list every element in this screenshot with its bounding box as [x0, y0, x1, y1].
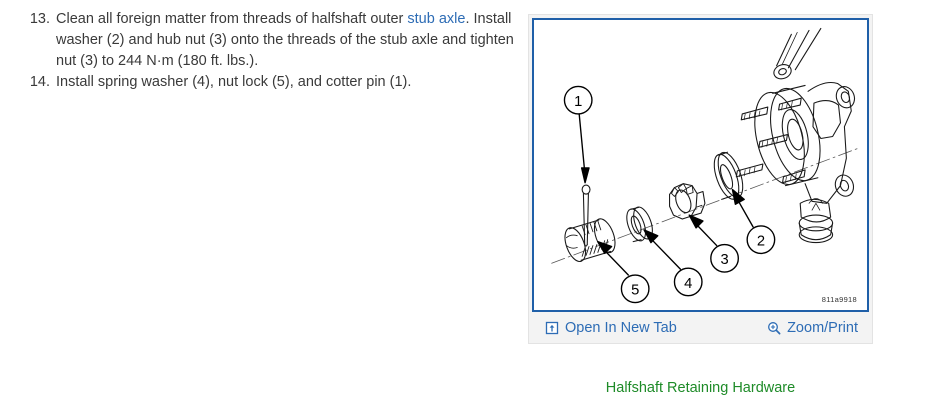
- callout-1: 1: [564, 86, 592, 114]
- stub-axle-link[interactable]: stub axle: [407, 11, 465, 27]
- knuckle-lower-bore: [832, 172, 856, 198]
- svg-text:4: 4: [684, 276, 692, 292]
- knuckle-upper-bore: [833, 84, 857, 110]
- hub-knuckle-assembly: [736, 28, 857, 242]
- figure-watermark: 811a9918: [822, 295, 857, 304]
- open-in-new-tab-button[interactable]: Open In New Tab: [545, 320, 677, 336]
- open-in-new-tab-label: Open In New Tab: [565, 320, 677, 336]
- callout-5: 5: [621, 275, 649, 303]
- magnifier-plus-icon: [767, 321, 781, 335]
- callout-2: 2: [747, 226, 775, 254]
- instruction-list: 13. Clean all foreign matter from thread…: [24, 9, 514, 93]
- svg-text:5: 5: [631, 283, 639, 299]
- step-text: Clean all foreign matter from threads of…: [56, 9, 514, 72]
- figure-panel: 1 5 4 3 2: [528, 14, 873, 344]
- callout-3: 3: [711, 245, 739, 273]
- step-text: Install spring washer (4), nut lock (5),…: [56, 72, 514, 93]
- halfshaft-hardware-diagram: 1 5 4 3 2: [534, 20, 867, 310]
- cotter-pin-part: [582, 185, 590, 246]
- step-text-before-link: Clean all foreign matter from threads of…: [56, 11, 407, 27]
- list-item: 13. Clean all foreign matter from thread…: [24, 9, 514, 72]
- hub-nut-part: [670, 184, 705, 219]
- step-number: 13.: [24, 9, 50, 30]
- figure-toolbar: Open In New Tab Zoom/Print: [529, 312, 872, 343]
- zoom-print-button[interactable]: Zoom/Print: [767, 320, 858, 336]
- centerline: [552, 148, 858, 263]
- svg-text:1: 1: [574, 94, 582, 110]
- svg-text:3: 3: [720, 252, 728, 268]
- step-number: 14.: [24, 72, 50, 93]
- figure-caption: Halfshaft Retaining Hardware: [528, 380, 873, 396]
- open-in-new-tab-icon: [545, 321, 559, 335]
- figure-image-container[interactable]: 1 5 4 3 2: [532, 18, 869, 312]
- svg-text:2: 2: [757, 234, 765, 250]
- list-item: 14. Install spring washer (4), nut lock …: [24, 72, 514, 93]
- zoom-print-label: Zoom/Print: [787, 320, 858, 336]
- callout-4: 4: [674, 268, 702, 296]
